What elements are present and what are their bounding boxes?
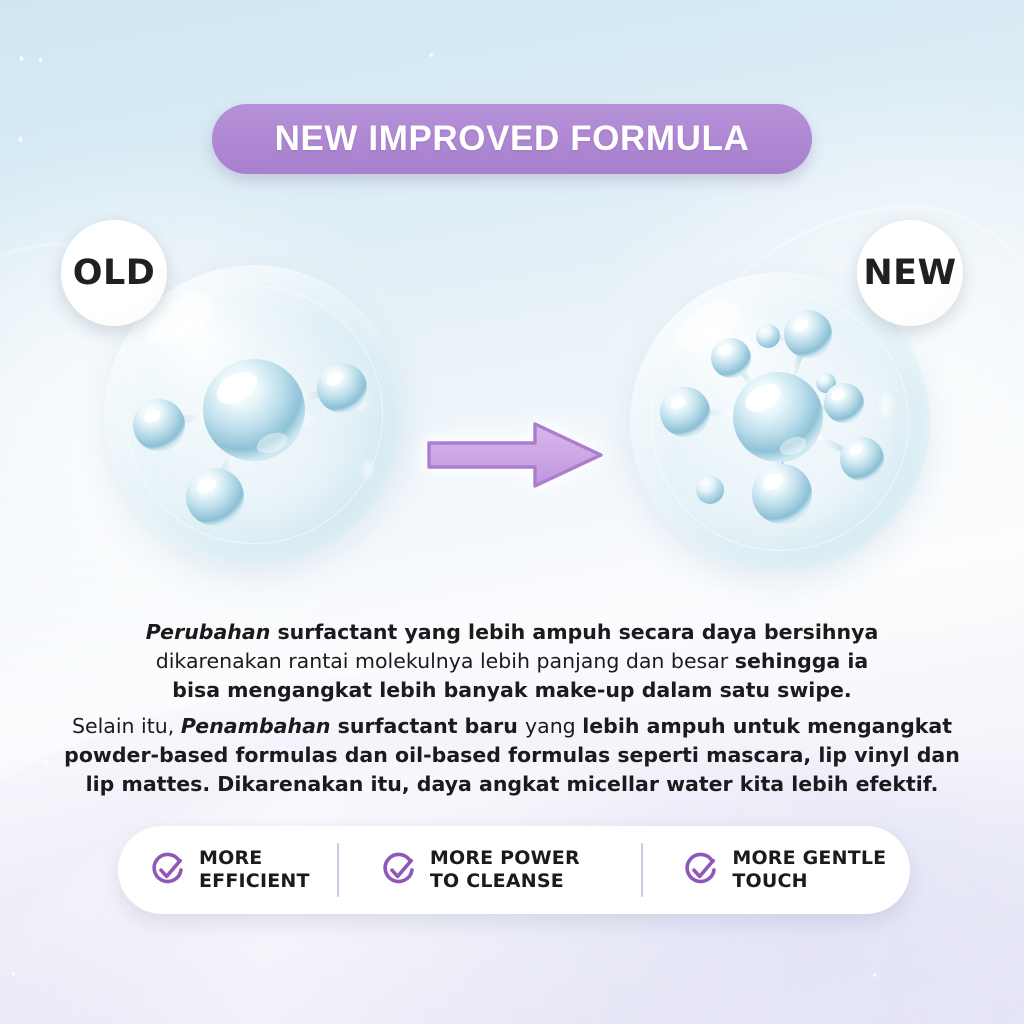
sparkle-icon [430,53,433,57]
paragraph-one-lead: Perubahan [146,620,271,644]
old-badge-label: OLD [73,253,156,293]
page-title: NEW IMPROVED FORMULA [275,119,750,159]
paragraph-two-lead: Penambahan [181,714,331,738]
new-badge-label: NEW [863,253,956,293]
paragraph-two-line2: powder-based formulas dan oil-based form… [64,743,960,767]
check-circle-icon [150,852,186,888]
right-arrow-icon [425,418,605,492]
paragraph-two-line1-regular2: yang [525,714,582,738]
new-badge: NEW [857,220,963,326]
sparkle-icon [19,137,22,142]
feature-bar: MORE EFFICIENT MORE POWER TO CLEANSE MOR… [118,826,910,914]
sparkle-icon [20,56,23,61]
old-badge: OLD [61,220,167,326]
paragraph-one-line3: bisa mengangkat lebih banyak make-up dal… [172,678,851,702]
sparkle-icon [975,420,978,425]
feature-label: MORE EFFICIENT [199,847,310,893]
check-circle-icon [683,852,719,888]
feature-item-more-power-to-cleanse[interactable]: MORE POWER TO CLEANSE [339,826,641,914]
sparkle-icon [873,973,876,977]
sparkle-icon [44,760,47,764]
sparkle-icon [12,972,15,976]
paragraph-two: Selain itu, Penambahan surfactant baru y… [62,712,962,799]
check-circle-icon [381,852,417,888]
feature-item-more-efficient[interactable]: MORE EFFICIENT [118,826,337,914]
paragraph-two-line1-bold2: lebih ampuh untuk mengangkat [582,714,952,738]
paragraph-two-line3: lip mattes. Dikarenakan itu, daya angkat… [86,772,939,796]
paragraph-one: Perubahan surfactant yang lebih ampuh se… [62,618,962,705]
feature-label: MORE GENTLE TOUCH [732,847,886,893]
paragraph-one-line2-regular: dikarenakan rantai molekulnya lebih panj… [156,649,735,673]
paragraph-two-line1-bold: surfactant baru [331,714,525,738]
feature-item-more-gentle-touch[interactable]: MORE GENTLE TOUCH [643,826,910,914]
transition-arrow [425,418,605,492]
sparkle-icon [39,58,42,62]
paragraph-two-line1-regular: Selain itu, [72,714,181,738]
feature-label: MORE POWER TO CLEANSE [430,847,580,893]
paragraph-one-line1: surfactant yang lebih ampuh secara daya … [270,620,878,644]
header-banner: NEW IMPROVED FORMULA [212,104,812,174]
paragraph-one-line2-bold: sehingga ia [735,649,869,673]
